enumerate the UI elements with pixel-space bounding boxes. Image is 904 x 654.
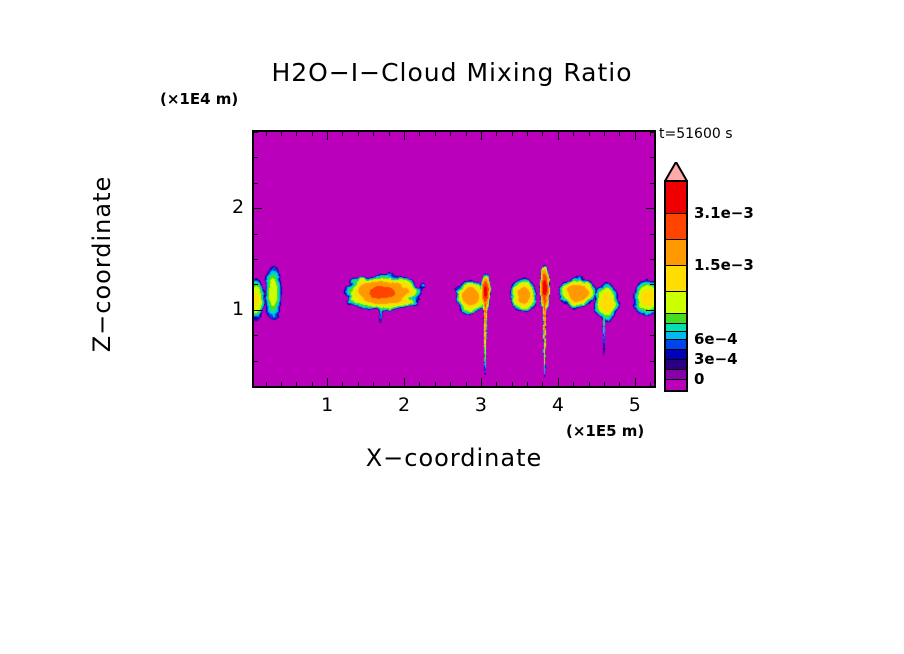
colorbar-band <box>666 323 686 331</box>
tick-mark <box>650 132 654 133</box>
tick-mark <box>646 208 654 209</box>
tick-mark <box>327 378 328 386</box>
colorbar-tick-label: 1.5e−3 <box>694 256 754 274</box>
colorbar-band <box>666 331 686 339</box>
tick-mark <box>646 310 654 311</box>
tick-mark <box>650 234 654 235</box>
x-tick-label: 4 <box>552 394 564 416</box>
tick-mark <box>404 378 405 386</box>
tick-mark <box>254 284 258 285</box>
tick-mark <box>604 132 605 136</box>
tick-mark <box>635 378 636 386</box>
tick-mark <box>254 157 258 158</box>
tick-mark <box>481 132 482 140</box>
tick-mark <box>254 386 258 387</box>
colorbar-band <box>666 379 686 390</box>
tick-mark <box>650 335 654 336</box>
x-tick-label: 3 <box>475 394 487 416</box>
tick-mark <box>266 132 267 136</box>
tick-mark <box>619 382 620 386</box>
plot-area <box>252 130 656 388</box>
colorbar-band <box>666 213 686 239</box>
tick-mark <box>358 132 359 136</box>
tick-mark <box>635 132 636 140</box>
tick-mark <box>312 382 313 386</box>
tick-mark <box>527 382 528 386</box>
x-tick-label: 2 <box>398 394 410 416</box>
tick-mark <box>254 361 258 362</box>
tick-mark <box>589 132 590 136</box>
colorbar-band <box>666 359 686 369</box>
tick-mark <box>650 157 654 158</box>
tick-mark <box>281 132 282 136</box>
tick-mark <box>254 183 258 184</box>
z-axis-unit-label: (×1E4 m) <box>160 90 238 108</box>
tick-mark <box>450 382 451 386</box>
tick-mark <box>419 382 420 386</box>
colorbar-band <box>666 239 686 265</box>
tick-mark <box>650 259 654 260</box>
colorbar-arrow-cap <box>664 162 688 182</box>
colorbar-cap-icon <box>664 162 688 182</box>
heatmap-field <box>254 132 654 386</box>
y-tick-label: 1 <box>232 298 244 320</box>
y-tick-label: 2 <box>232 196 244 218</box>
tick-mark <box>542 382 543 386</box>
colorbar-tick-label: 3e−4 <box>694 350 738 368</box>
tick-mark <box>619 132 620 136</box>
colorbar-tick-label: 6e−4 <box>694 330 738 348</box>
tick-mark <box>650 361 654 362</box>
x-axis-unit-label: (×1E5 m) <box>566 422 644 440</box>
tick-mark <box>296 132 297 136</box>
tick-mark <box>650 386 654 387</box>
tick-mark <box>404 132 405 140</box>
tick-mark <box>296 382 297 386</box>
tick-mark <box>373 382 374 386</box>
colorbar-band <box>666 369 686 378</box>
colorbar-band <box>666 313 686 323</box>
tick-mark <box>604 382 605 386</box>
tick-mark <box>466 132 467 136</box>
tick-mark <box>650 183 654 184</box>
tick-mark <box>558 378 559 386</box>
tick-mark <box>389 132 390 136</box>
tick-mark <box>254 259 258 260</box>
tick-mark <box>342 382 343 386</box>
tick-mark <box>542 132 543 136</box>
tick-mark <box>573 132 574 136</box>
tick-mark <box>558 132 559 140</box>
tick-mark <box>373 132 374 136</box>
colorbar-band <box>666 182 686 213</box>
tick-mark <box>266 382 267 386</box>
tick-mark <box>254 132 258 133</box>
x-axis-label: X−coordinate <box>252 444 656 472</box>
tick-mark <box>512 132 513 136</box>
tick-mark <box>573 382 574 386</box>
timestamp-label: t=51600 s <box>659 126 733 142</box>
tick-mark <box>419 132 420 136</box>
y-axis-label: Z−coordinate <box>88 134 116 394</box>
chart-title: H2O−I−Cloud Mixing Ratio <box>0 58 904 87</box>
tick-mark <box>496 382 497 386</box>
tick-mark <box>496 132 497 136</box>
tick-mark <box>254 208 262 209</box>
figure-root: H2O−I−Cloud Mixing Ratio (×1E4 m) t=5160… <box>0 0 904 654</box>
x-tick-label: 1 <box>321 394 333 416</box>
tick-mark <box>342 132 343 136</box>
tick-mark <box>389 382 390 386</box>
tick-mark <box>450 132 451 136</box>
colorbar-tick-label: 3.1e−3 <box>694 204 754 222</box>
tick-mark <box>589 382 590 386</box>
tick-mark <box>481 378 482 386</box>
tick-mark <box>312 132 313 136</box>
tick-mark <box>254 234 258 235</box>
tick-mark <box>254 310 262 311</box>
tick-mark <box>327 132 328 140</box>
tick-mark <box>466 382 467 386</box>
tick-mark <box>512 382 513 386</box>
colorbar-band <box>666 291 686 313</box>
tick-mark <box>435 382 436 386</box>
tick-mark <box>527 132 528 136</box>
x-tick-label: 5 <box>629 394 641 416</box>
tick-mark <box>435 132 436 136</box>
tick-mark <box>358 382 359 386</box>
tick-mark <box>254 335 258 336</box>
colorbar-tick-label: 0 <box>694 370 704 388</box>
colorbar-band <box>666 349 686 359</box>
colorbar-band <box>666 265 686 291</box>
colorbar-band <box>666 339 686 349</box>
tick-mark <box>650 284 654 285</box>
tick-mark <box>281 382 282 386</box>
colorbar <box>664 180 688 392</box>
